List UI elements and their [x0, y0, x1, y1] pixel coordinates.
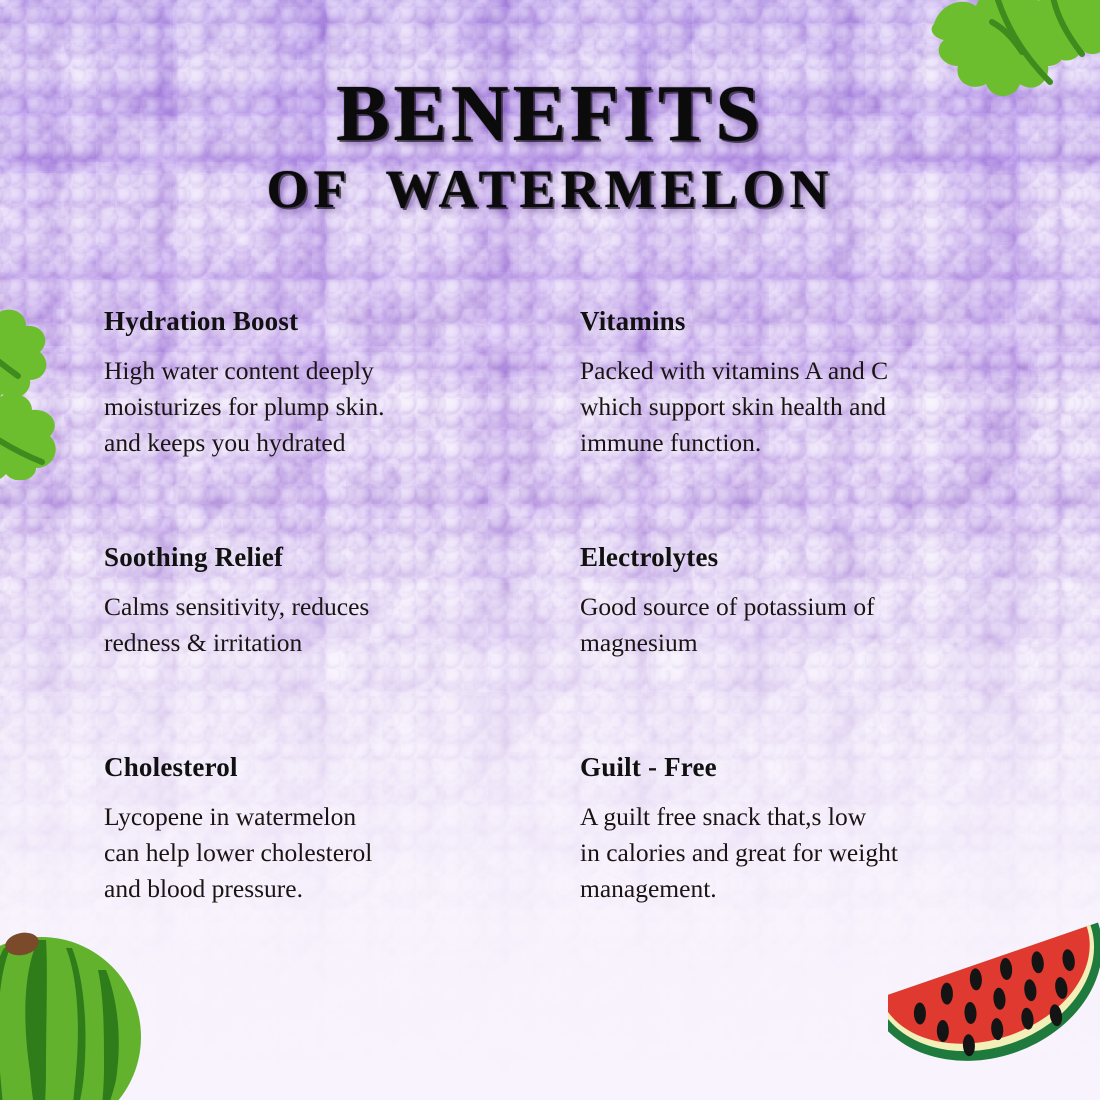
benefit-body: Good source of potassium of magnesium: [580, 589, 1030, 661]
benefit-heading: Electrolytes: [580, 544, 1030, 571]
benefit-item-hydration-boost: Hydration Boost High water content deepl…: [104, 308, 524, 504]
benefit-item-vitamins: Vitamins Packed with vitamins A and C wh…: [580, 308, 1030, 504]
benefit-item-guilt-free: Guilt - Free A guilt free snack that,s l…: [580, 754, 1030, 907]
benefit-heading: Vitamins: [580, 308, 1030, 335]
benefit-item-electrolytes: Electrolytes Good source of potassium of…: [580, 544, 1030, 714]
benefits-column-right: Vitamins Packed with vitamins A and C wh…: [580, 308, 1030, 907]
benefit-body: A guilt free snack that,s low in calorie…: [580, 799, 1030, 907]
benefit-item-soothing-relief: Soothing Relief Calms sensitivity, reduc…: [104, 544, 524, 714]
benefits-column-left: Hydration Boost High water content deepl…: [104, 308, 524, 907]
watermelon-slice-icon: [888, 906, 1100, 1100]
benefit-body: Packed with vitamins A and C which suppo…: [580, 353, 1030, 461]
whole-watermelon-icon: [0, 922, 156, 1100]
benefit-body: Lycopene in watermelon can help lower ch…: [104, 799, 524, 907]
benefit-item-cholesterol: Cholesterol Lycopene in watermelon can h…: [104, 754, 524, 907]
benefit-body: High water content deeply moisturizes fo…: [104, 353, 524, 461]
poster-subtitle: OF WATERMELON: [0, 162, 1100, 216]
benefit-heading: Cholesterol: [104, 754, 524, 781]
benefit-heading: Guilt - Free: [580, 754, 1030, 781]
benefit-heading: Soothing Relief: [104, 544, 524, 571]
benefits-grid: Hydration Boost High water content deepl…: [0, 308, 1100, 868]
benefit-heading: Hydration Boost: [104, 308, 524, 335]
benefit-body: Calms sensitivity, reduces redness & irr…: [104, 589, 524, 661]
title-block: BENEFITS OF WATERMELON: [0, 74, 1100, 216]
poster-title: BENEFITS: [0, 74, 1100, 154]
poster-canvas: BENEFITS OF WATERMELON Hydration Boost H…: [0, 0, 1100, 1100]
